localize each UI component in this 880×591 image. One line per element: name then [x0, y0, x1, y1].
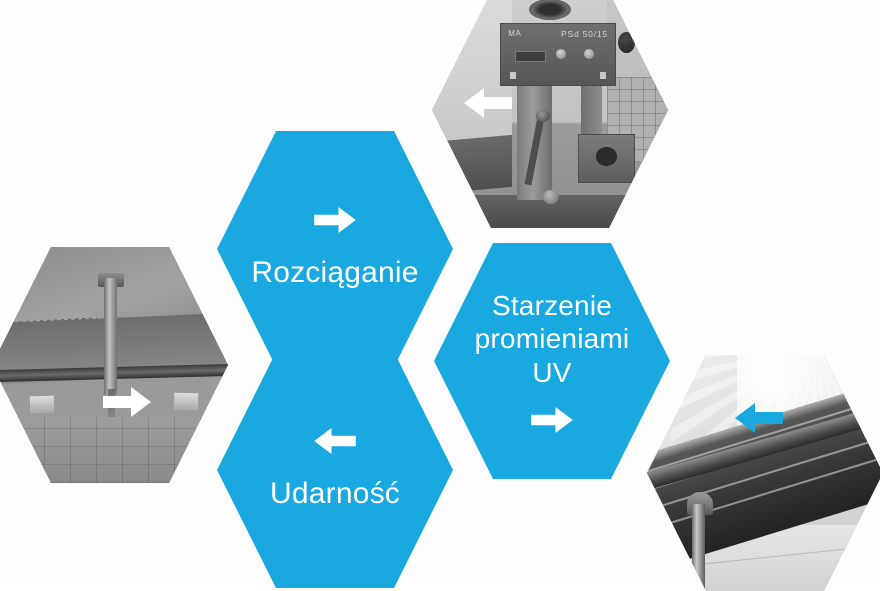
- hex-photo-impact-test[interactable]: [0, 247, 228, 483]
- arrow-right-icon: [531, 407, 573, 433]
- hex-label-rozciaganie[interactable]: Rozciąganie: [217, 131, 453, 367]
- arrow-right-icon: [103, 387, 151, 417]
- hex-label-text: Starzenie promieniami UV: [475, 289, 630, 388]
- hex-label-udarnosc[interactable]: Udarność: [217, 352, 453, 588]
- arrow-right-icon: [314, 207, 356, 233]
- arrow-left-icon: [314, 428, 356, 454]
- photo-roof-scene: [647, 355, 880, 591]
- hex-label-starzenie-uv[interactable]: Starzenie promieniami UV: [434, 243, 670, 479]
- arrow-left-icon: [464, 88, 512, 118]
- machine-brand-label: MA: [508, 29, 521, 38]
- photo-impact-scene: [0, 247, 228, 483]
- hex-label-text: Udarność: [270, 476, 400, 511]
- hexagon-diagram-canvas: MA PSd 50/15: [0, 0, 880, 585]
- machine-model-label: PSd 50/15: [561, 29, 608, 39]
- hex-photo-roof-uv[interactable]: [647, 355, 880, 591]
- hex-photo-testing-machine[interactable]: MA PSd 50/15: [432, 0, 668, 228]
- arrow-left-icon: [735, 403, 783, 433]
- hex-label-text: Rozciąganie: [251, 255, 418, 290]
